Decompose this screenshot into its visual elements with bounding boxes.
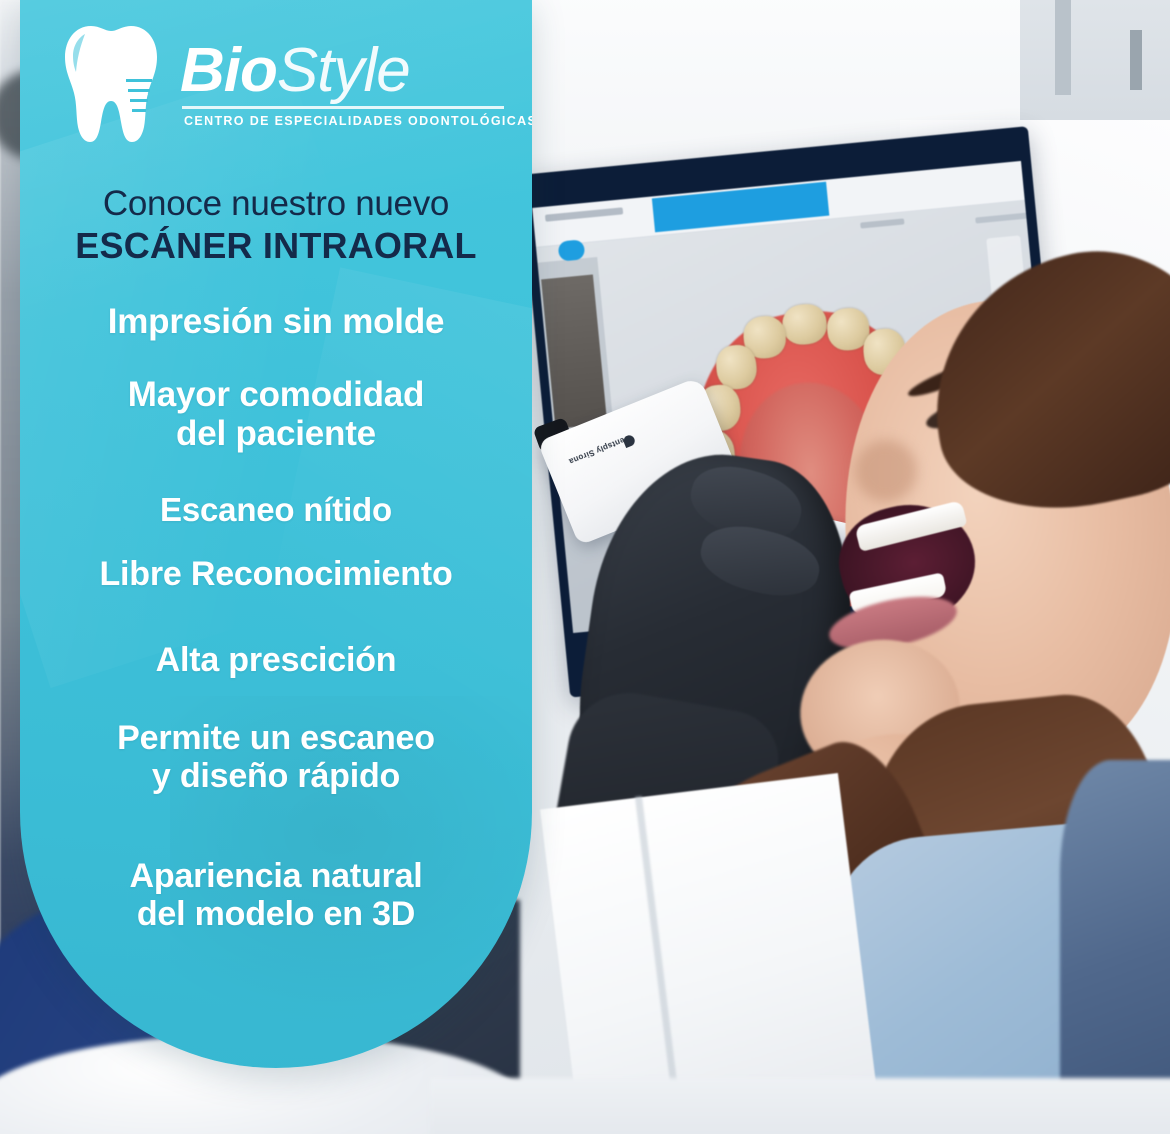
photo-bottom-edge [430, 1078, 1170, 1134]
brand-wordmark: BioStyle CENTRO DE ESPECIALIDADES ODONTO… [180, 40, 510, 102]
poster: Dentsply Sirona [0, 0, 1170, 1134]
feature-item: Libre Reconocimiento [20, 555, 532, 593]
feature-item: Mayor comodidad del paciente [20, 375, 532, 453]
feature-line: Impresión sin molde [20, 302, 532, 341]
wall-trim-strip [1055, 0, 1071, 95]
feature-item: Impresión sin molde [20, 302, 532, 341]
feature-line: y diseño rápido [20, 757, 532, 795]
brand-divider [182, 106, 504, 109]
tooth-implant-icon [58, 20, 178, 148]
brand-name-bio: Bio [180, 36, 277, 105]
feature-line: Escaneo nítido [20, 492, 532, 529]
brand-name: BioStyle [180, 40, 510, 102]
headline-line-2: ESCÁNER INTRAORAL [20, 225, 532, 267]
scanner-brand-label: Dentsply Sirona [568, 433, 632, 466]
feature-item: Alta prescición [20, 641, 532, 679]
feature-list: Impresión sin molde Mayor comodidad del … [20, 292, 532, 933]
wall-trim-strip-secondary [1130, 30, 1142, 90]
headline: Conoce nuestro nuevo ESCÁNER INTRAORAL [20, 184, 532, 268]
feature-item: Apariencia natural del modelo en 3D [20, 857, 532, 933]
feature-item: Permite un escaneo y diseño rápido [20, 719, 532, 795]
patient-nose [855, 440, 917, 502]
feature-line: Alta prescición [20, 641, 532, 679]
brand-logo: BioStyle CENTRO DE ESPECIALIDADES ODONTO… [58, 20, 508, 152]
feature-line: Libre Reconocimiento [20, 555, 532, 593]
info-panel-content: BioStyle CENTRO DE ESPECIALIDADES ODONTO… [20, 0, 532, 1068]
brand-name-style: Style [277, 36, 410, 105]
software-label-b [860, 218, 904, 228]
feature-line: Mayor comodidad [20, 375, 532, 414]
software-label-c [975, 212, 1029, 223]
feature-line: del paciente [20, 414, 532, 453]
feature-line: Permite un escaneo [20, 719, 532, 757]
info-panel: BioStyle CENTRO DE ESPECIALIDADES ODONTO… [20, 0, 532, 1068]
feature-line: Apariencia natural [20, 857, 532, 895]
feature-item: Escaneo nítido [20, 492, 532, 529]
brand-tagline: CENTRO DE ESPECIALIDADES ODONTOLÓGICAS [184, 114, 532, 128]
feature-line: del modelo en 3D [20, 895, 532, 933]
headline-line-1: Conoce nuestro nuevo [20, 184, 532, 223]
